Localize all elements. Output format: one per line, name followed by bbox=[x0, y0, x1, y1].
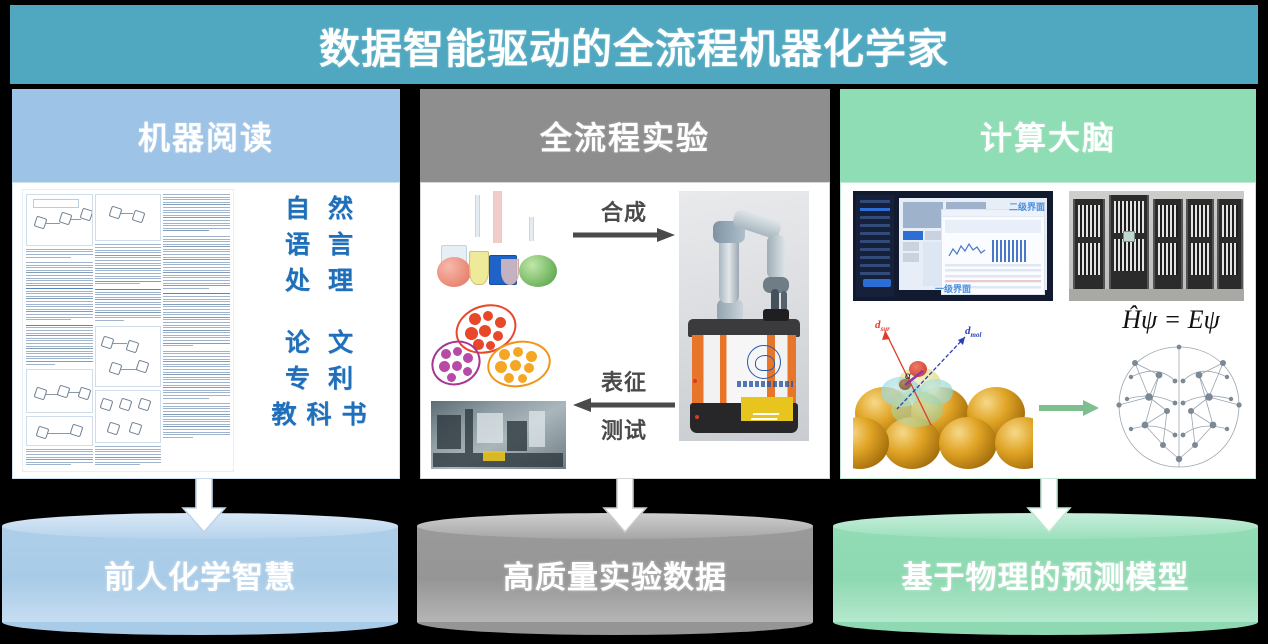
paper-text-block bbox=[26, 262, 93, 322]
paper-text-block bbox=[163, 194, 230, 233]
paper-text-block bbox=[26, 325, 93, 367]
synthesis-arrow-group: 合成 bbox=[571, 195, 677, 243]
paper-text-block bbox=[95, 446, 162, 467]
down-arrow-icon-col2 bbox=[602, 478, 648, 534]
source-char: 利 bbox=[328, 361, 353, 397]
paper-scan-image bbox=[22, 189, 234, 472]
green-right-arrow-icon bbox=[1037, 398, 1101, 418]
slide-title-bar: 数据智能驱动的全流程机器化学家 bbox=[10, 5, 1258, 84]
paper-text-block bbox=[163, 236, 230, 290]
paper-column-left bbox=[26, 194, 93, 467]
bar-chart-icon bbox=[992, 240, 1028, 262]
paper-figure bbox=[26, 369, 93, 413]
keyword-char: 理 bbox=[328, 263, 353, 299]
slide-root: 数据智能驱动的全流程机器化学家 机器阅读 bbox=[0, 0, 1268, 644]
testing-label: 测试 bbox=[571, 413, 677, 445]
source-row: 论 文 bbox=[285, 325, 353, 361]
right-arrow-icon bbox=[571, 227, 677, 243]
keyword-char: 言 bbox=[328, 227, 353, 263]
cell-clusters-diagram bbox=[429, 303, 569, 395]
cylinder-label: 高质量实验数据 bbox=[503, 552, 727, 597]
paper-column-middle bbox=[95, 194, 162, 467]
keyword-char: 语 bbox=[285, 227, 310, 263]
down-arrow-icon-col3 bbox=[1026, 478, 1072, 534]
page-title: 数据智能驱动的全流程机器化学家 bbox=[319, 15, 949, 75]
paper-text-block bbox=[95, 244, 162, 286]
keyword-char: 处 bbox=[285, 263, 310, 299]
orbital-label-alpha: α bbox=[905, 371, 911, 382]
cylinder-label: 前人化学智慧 bbox=[104, 552, 296, 597]
paper-figure bbox=[95, 194, 162, 241]
flasks-photo bbox=[433, 191, 563, 289]
paper-text-block bbox=[26, 249, 93, 259]
line-chart-icon bbox=[948, 240, 986, 262]
source-char: 书 bbox=[342, 397, 367, 433]
column-header-label: 全流程实验 bbox=[540, 113, 710, 159]
orbital-label-dmol: dmol bbox=[965, 325, 981, 339]
schrodinger-equation: Ĥψ = Eψ bbox=[1096, 305, 1246, 335]
paper-text-block bbox=[26, 449, 93, 467]
column-header-label: 机器阅读 bbox=[138, 113, 274, 159]
dashboard-sidebar bbox=[856, 195, 894, 297]
mobile-robot-photo bbox=[679, 191, 809, 441]
characterization-arrow-group: 表征 测试 bbox=[571, 365, 677, 445]
paper-figure bbox=[95, 390, 162, 443]
source-char: 论 bbox=[285, 325, 310, 361]
column-body-full-process-experiment: 合成 表征 测试 bbox=[420, 182, 830, 479]
source-row: 教 科 书 bbox=[271, 397, 366, 433]
source-char: 教 bbox=[271, 397, 296, 433]
column-computing-brain: 计算大脑 bbox=[840, 89, 1256, 479]
paper-figure bbox=[26, 194, 93, 246]
paper-figure bbox=[26, 416, 93, 446]
keyword-char: 然 bbox=[328, 191, 353, 227]
source-row: 专 利 bbox=[285, 361, 353, 397]
paper-column-right bbox=[163, 194, 230, 467]
paper-text-block bbox=[163, 351, 230, 400]
column-body-computing-brain: 二级界面 一级界面 Ĥψ = Eψ bbox=[840, 182, 1256, 479]
control-dashboard-screenshot: 二级界面 一级界面 bbox=[853, 191, 1053, 301]
dashboard-label-primary: 一级界面 bbox=[935, 282, 971, 295]
column-machine-reading: 机器阅读 bbox=[12, 89, 400, 479]
column-header-computing-brain: 计算大脑 bbox=[840, 89, 1256, 182]
left-arrow-icon bbox=[571, 397, 677, 413]
keyword-character-stack: 自 然 语 言 处 理 论 文 专 利 bbox=[245, 191, 393, 473]
keyword-row: 自 然 bbox=[285, 191, 353, 227]
paper-text-block bbox=[163, 293, 230, 347]
lab-equipment-photo bbox=[431, 401, 566, 469]
supercomputer-racks-photo bbox=[1069, 191, 1244, 301]
paper-figure bbox=[95, 326, 162, 387]
molecular-orbital-diagram: dsur dmol α bbox=[853, 313, 1033, 471]
keyword-row: 语 言 bbox=[285, 227, 353, 263]
keyword-row: 处 理 bbox=[285, 263, 353, 299]
column-body-machine-reading: 自 然 语 言 处 理 论 文 专 利 bbox=[12, 182, 400, 479]
orbital-label-dsur: dsur bbox=[875, 319, 890, 333]
brain-network-graph bbox=[1109, 341, 1249, 473]
keyword-char: 自 bbox=[285, 191, 310, 227]
orbital-axes bbox=[853, 313, 1033, 471]
source-char: 专 bbox=[285, 361, 310, 397]
dashboard-sidebar-button bbox=[863, 279, 891, 287]
dashboard-label-secondary: 二级界面 bbox=[1009, 200, 1045, 213]
column-header-label: 计算大脑 bbox=[980, 113, 1116, 159]
source-char: 文 bbox=[328, 325, 353, 361]
down-arrow-icon-col1 bbox=[181, 478, 227, 534]
column-header-full-process-experiment: 全流程实验 bbox=[420, 89, 830, 182]
column-header-machine-reading: 机器阅读 bbox=[12, 89, 400, 182]
characterization-label: 表征 bbox=[571, 365, 677, 397]
synthesis-label: 合成 bbox=[571, 195, 677, 227]
paper-text-block bbox=[95, 289, 162, 323]
source-char: 科 bbox=[306, 397, 331, 433]
cylinder-label: 基于物理的预测模型 bbox=[902, 552, 1190, 597]
paper-text-block bbox=[163, 403, 230, 439]
column-full-process-experiment: 全流程实验 bbox=[420, 89, 830, 479]
